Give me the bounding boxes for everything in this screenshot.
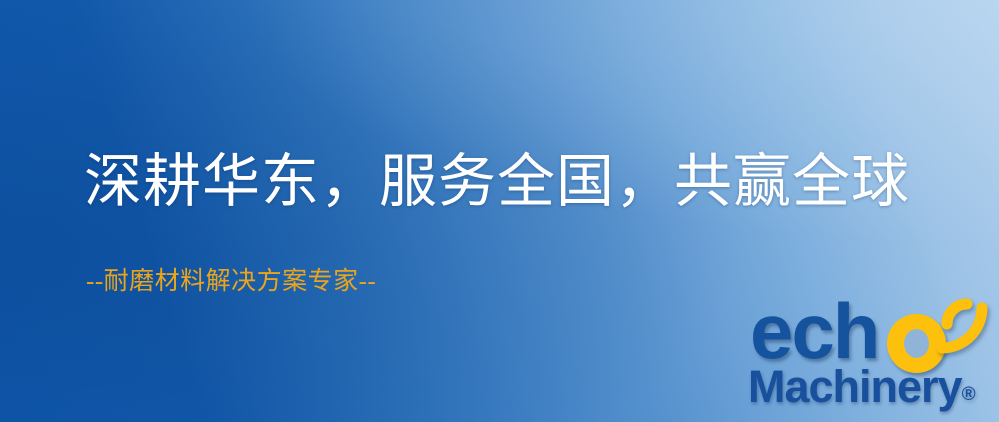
promo-banner: 深耕华东，服务全国，共赢全球 --耐磨材料解决方案专家-- ech Machin…: [0, 0, 999, 422]
logo-tagline-row: Machinery®: [748, 364, 976, 417]
logo-brand-prefix: ech: [750, 292, 878, 370]
echo-signal-waves-icon: [934, 294, 999, 366]
echo-machinery-logo: ech Machinery®: [748, 296, 999, 422]
logo-tagline-text: Machinery: [748, 361, 962, 412]
banner-headline: 深耕华东，服务全国，共赢全球: [84, 152, 910, 212]
registered-trademark-icon: ®: [962, 384, 976, 405]
banner-subtitle: --耐磨材料解决方案专家--: [86, 268, 376, 296]
